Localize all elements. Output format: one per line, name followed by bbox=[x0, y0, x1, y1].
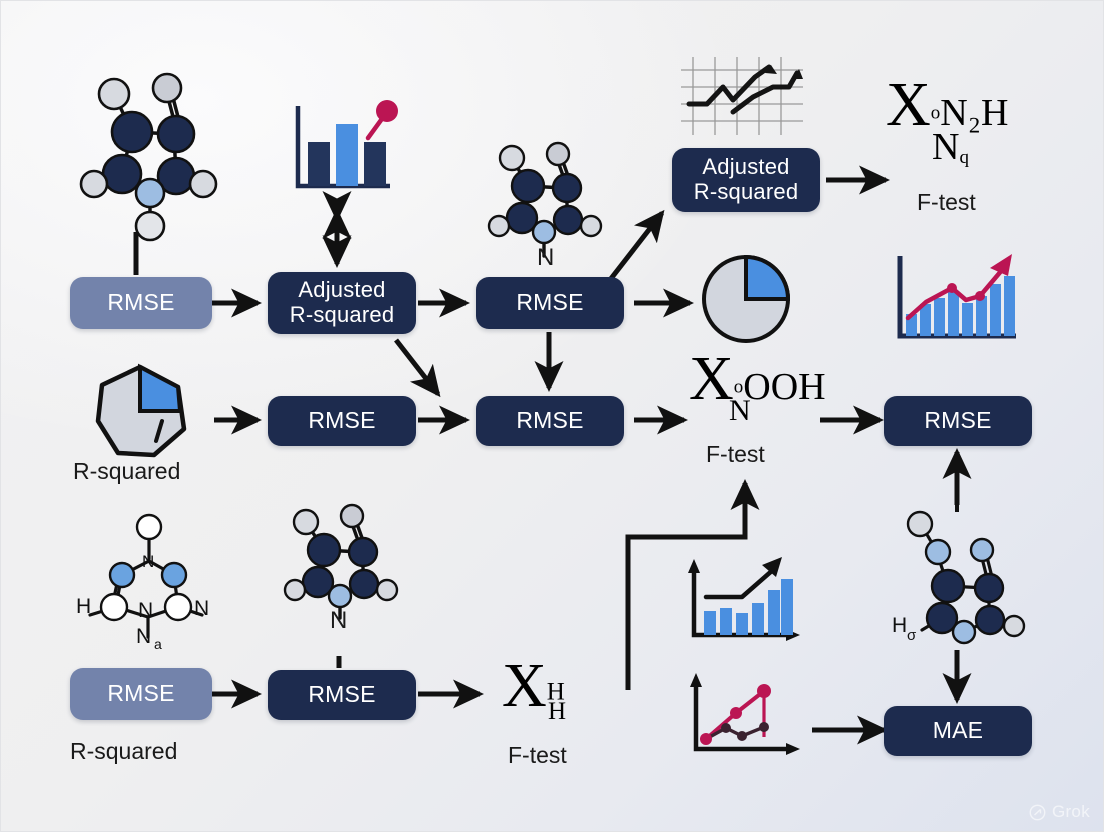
svg-text:H: H bbox=[76, 595, 91, 618]
node-rmse-bottom-left-label: RMSE bbox=[107, 681, 174, 707]
formula-bottom: XH H bbox=[502, 655, 565, 717]
svg-text:N: N bbox=[138, 599, 153, 622]
node-adjusted-r-squared-left-line2: R-squared bbox=[290, 303, 395, 328]
node-rmse-mid-left-label: RMSE bbox=[308, 408, 375, 434]
formula-middle-core: X bbox=[689, 345, 734, 413]
node-rmse-mid-left[interactable]: RMSE bbox=[268, 396, 416, 446]
molecule-right: H σ bbox=[892, 508, 1026, 644]
molecule-bottom-left-ring: N N N H N a bbox=[74, 505, 224, 645]
caption-f-test-bottom: F-test bbox=[508, 742, 567, 769]
node-rmse-bottom-left[interactable]: RMSE bbox=[70, 668, 212, 720]
svg-text:N: N bbox=[136, 625, 151, 648]
caption-f-test-middle: F-test bbox=[706, 441, 765, 468]
node-rmse-bottom-center[interactable]: RMSE bbox=[268, 670, 416, 720]
two-series-line-chart bbox=[686, 665, 806, 765]
node-rmse-bottom-center-label: RMSE bbox=[308, 682, 375, 708]
molecule-center bbox=[482, 136, 612, 256]
grok-logo-icon bbox=[1029, 804, 1046, 821]
svg-text:N: N bbox=[194, 597, 209, 620]
node-adjusted-r-squared-top-right[interactable]: Adjusted R-squared bbox=[672, 148, 820, 212]
formula-bottom-core: X bbox=[502, 652, 547, 720]
caption-r-squared-heptagon: R-squared bbox=[73, 458, 180, 485]
node-mae-label: MAE bbox=[933, 718, 983, 744]
node-rmse-center-top[interactable]: RMSE bbox=[476, 277, 624, 329]
formula-middle-group-bottom: N bbox=[729, 394, 751, 427]
molecule-bottom-center-label-n: N bbox=[330, 607, 347, 635]
caption-f-test-top-right: F-test bbox=[917, 189, 976, 216]
bar-trend-chart-right bbox=[890, 252, 1022, 352]
formula-middle: XoOOH N bbox=[689, 348, 826, 410]
watermark: Grok bbox=[1029, 802, 1090, 822]
watermark-label: Grok bbox=[1052, 802, 1090, 822]
node-rmse-mid-center-label: RMSE bbox=[516, 408, 583, 434]
molecule-top-left bbox=[70, 60, 210, 235]
formula-top-right-group-bottom-sub: q bbox=[959, 147, 969, 168]
node-adjusted-r-squared-top-right-line1: Adjusted bbox=[702, 155, 789, 180]
node-rmse-top-left[interactable]: RMSE bbox=[70, 277, 212, 329]
molecule-center-label-n: N bbox=[537, 244, 554, 272]
pie-heptagon-icon bbox=[92, 363, 188, 459]
pie-chart bbox=[700, 253, 792, 345]
node-rmse-center-top-label: RMSE bbox=[516, 290, 583, 316]
formula-top-right-superscript: o bbox=[931, 103, 941, 124]
formula-top-right: XoN₂H Nq bbox=[886, 74, 1008, 136]
diagram-canvas: N bbox=[0, 0, 1104, 832]
molecule-right-label-sigma: σ bbox=[907, 627, 917, 644]
molecule-right-label-h: H bbox=[892, 614, 907, 637]
node-adjusted-r-squared-left-line1: Adjusted bbox=[298, 278, 385, 303]
molecule-bottom-center bbox=[278, 500, 404, 620]
bar-arrow-chart bbox=[686, 553, 804, 648]
grid-line-chart bbox=[681, 57, 803, 135]
node-rmse-top-left-label: RMSE bbox=[107, 290, 174, 316]
node-rmse-mid-right-label: RMSE bbox=[924, 408, 991, 434]
node-rmse-mid-center[interactable]: RMSE bbox=[476, 396, 624, 446]
node-rmse-mid-right[interactable]: RMSE bbox=[884, 396, 1032, 446]
svg-text:N: N bbox=[142, 552, 154, 571]
caption-r-squared-bottom-left: R-squared bbox=[70, 738, 177, 765]
formula-top-right-group-bottom: N bbox=[932, 126, 959, 168]
svg-text:a: a bbox=[154, 636, 162, 652]
node-adjusted-r-squared-left[interactable]: Adjusted R-squared bbox=[268, 272, 416, 334]
formula-bottom-group-bottom: H bbox=[548, 698, 566, 725]
node-adjusted-r-squared-top-right-line2: R-squared bbox=[694, 180, 799, 205]
bar-pin-chart bbox=[286, 98, 396, 200]
formula-top-right-core: X bbox=[886, 71, 931, 139]
node-mae[interactable]: MAE bbox=[884, 706, 1032, 756]
formula-middle-group-top: OOH bbox=[743, 366, 825, 408]
